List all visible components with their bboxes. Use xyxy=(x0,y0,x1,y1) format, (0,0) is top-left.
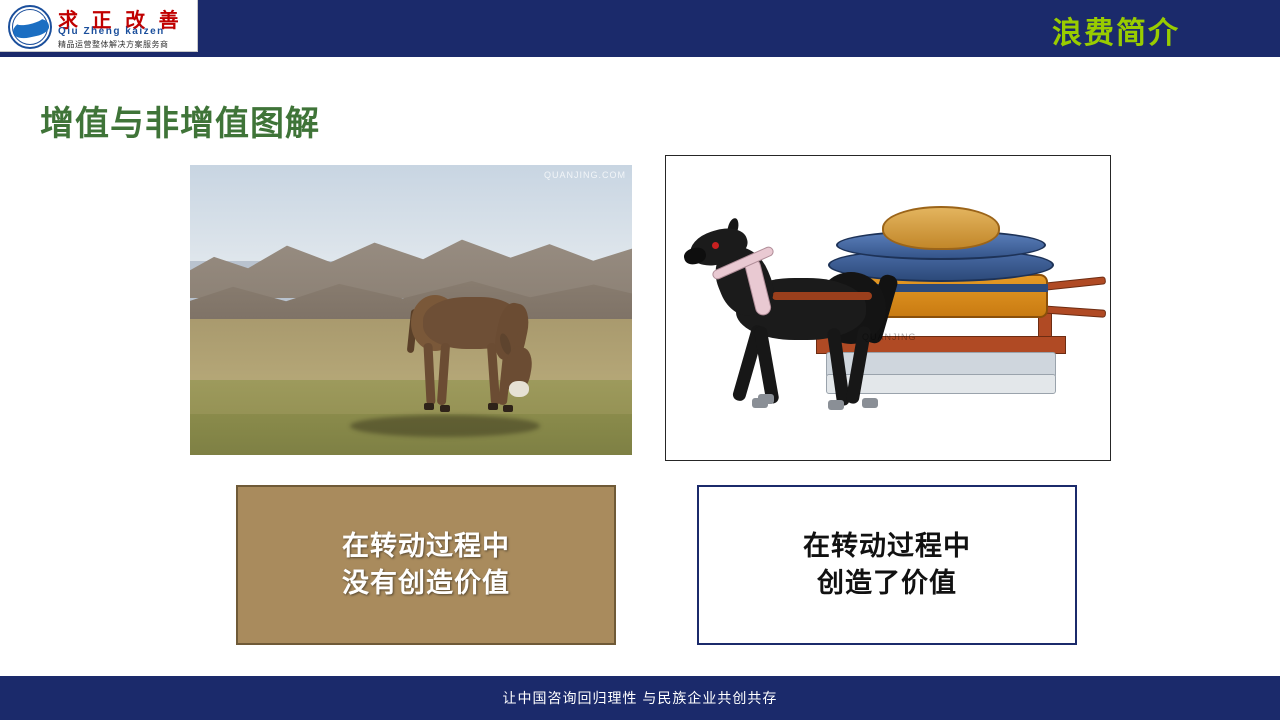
illustration-watermark: QUANJING xyxy=(862,332,917,342)
horse-figure xyxy=(676,196,896,426)
header-underline xyxy=(0,52,1280,57)
donkey-figure xyxy=(405,275,545,425)
horse-harness-strap xyxy=(772,292,872,300)
footer-band: 让中国咨询回归理性 与民族企业共创共存 xyxy=(0,676,1280,720)
caption-box-non-value-added: 在转动过程中 没有创造价值 xyxy=(236,485,616,645)
logo-block: 求 正 改 善 Qiu Zheng kaizen 精品运营整体解决方案服务商 xyxy=(0,0,198,52)
donkey-hoof xyxy=(488,403,498,410)
horse-eye xyxy=(712,242,719,249)
donkey-muzzle xyxy=(509,381,529,397)
horse-cart-illustration: QUANJING xyxy=(665,155,1111,461)
donkey-hoof xyxy=(503,405,513,412)
caption-right-line1: 在转动过程中 xyxy=(803,529,971,564)
page-title: 增值与非增值图解 xyxy=(40,96,320,145)
horse-hoof xyxy=(752,398,768,408)
caption-right-line2: 创造了价值 xyxy=(817,566,957,601)
donkey-leg xyxy=(423,343,435,405)
donkey-hoof xyxy=(440,405,450,412)
slide-root: 浪费简介 求 正 改 善 Qiu Zheng kaizen 精品运营整体解决方案… xyxy=(0,0,1280,720)
footer-slogan: 让中国咨询回归理性 与民族企业共创共存 xyxy=(503,688,778,708)
donkey-photo: QUANJING.COM xyxy=(190,165,632,455)
caption-left-line1: 在转动过程中 xyxy=(342,529,510,564)
cargo-top-load xyxy=(882,206,1000,250)
donkey-hoof xyxy=(424,403,434,410)
qiuzheng-circle-logo-icon xyxy=(8,5,52,49)
donkey-leg xyxy=(437,343,450,405)
horse-hoof xyxy=(862,398,878,408)
caption-left-line2: 没有创造价值 xyxy=(342,566,510,601)
logo-tagline: 精品运营整体解决方案服务商 xyxy=(58,39,169,50)
header-title: 浪费简介 xyxy=(1052,8,1180,52)
horse-hoof xyxy=(828,400,844,410)
logo-name-en: Qiu Zheng kaizen xyxy=(58,26,165,37)
caption-box-value-added: 在转动过程中 创造了价值 xyxy=(697,485,1077,645)
photo-watermark: QUANJING.COM xyxy=(544,170,626,180)
